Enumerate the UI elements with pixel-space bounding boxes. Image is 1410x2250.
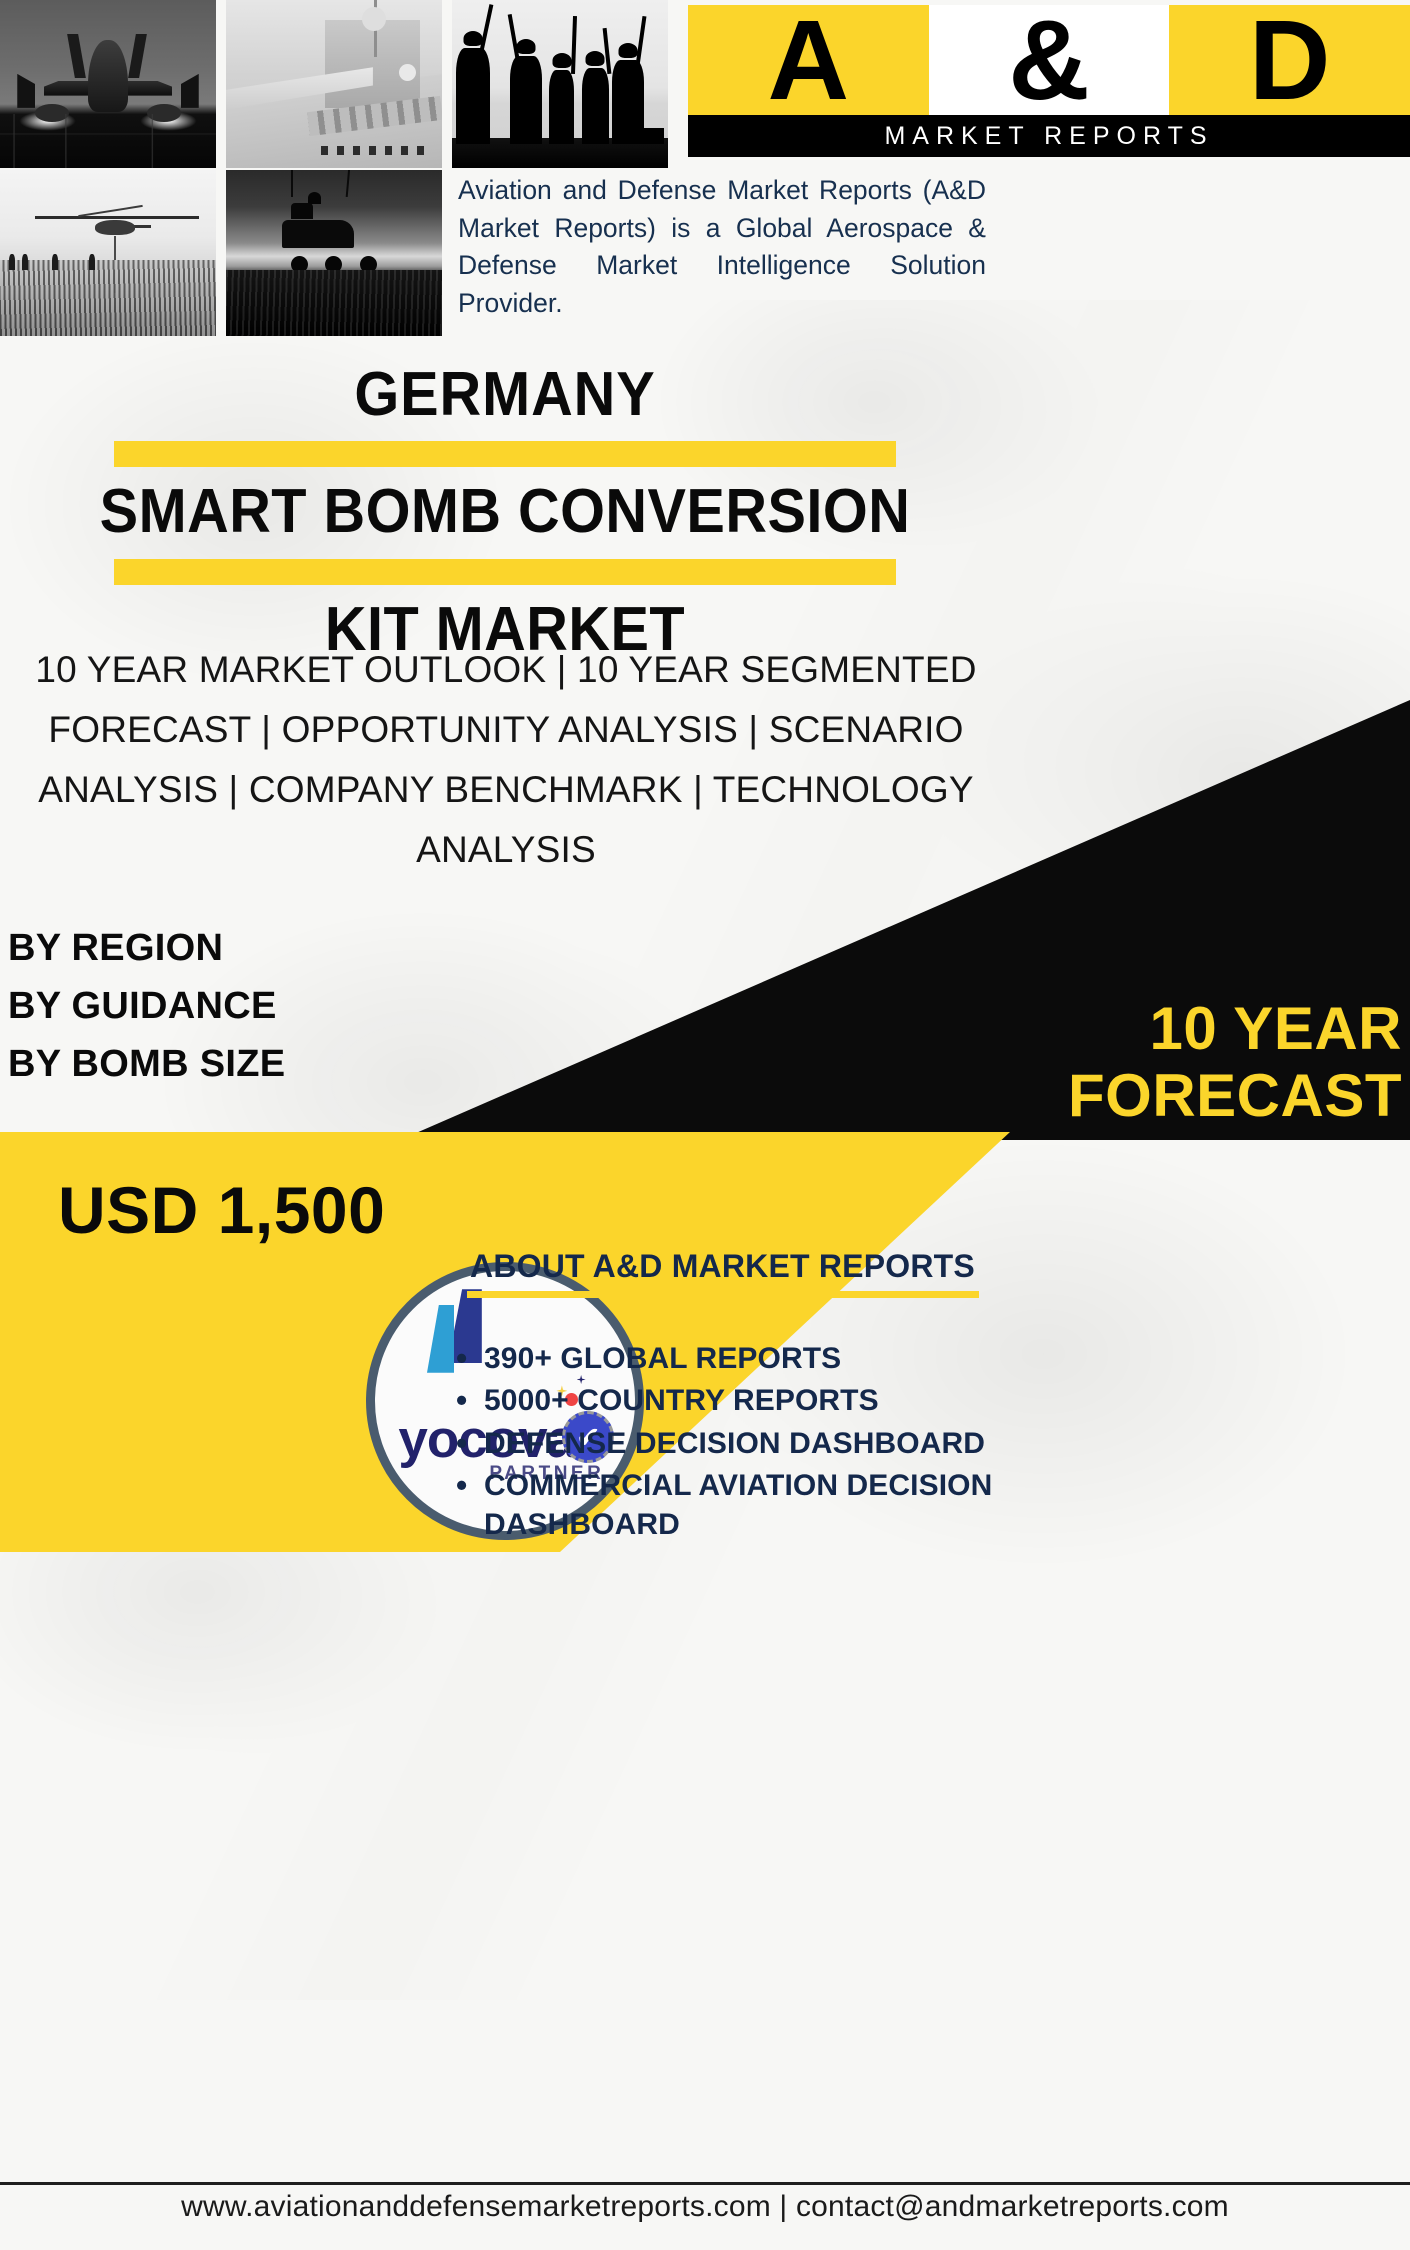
segmentation-list: BY REGION BY GUIDANCE BY BOMB SIZE	[8, 920, 285, 1093]
troop-silhouette	[22, 254, 28, 270]
photo-helicopter-troop-insertion	[0, 170, 216, 336]
photo-aircraft-carrier-superstructure	[226, 0, 442, 168]
company-description: Aviation and Defense Market Reports (A&D…	[458, 172, 986, 323]
logo-letter-d: D	[1169, 5, 1410, 115]
jet-fin-right-shape	[181, 74, 199, 108]
about-title-underline	[467, 1291, 979, 1298]
ship-radar-dome-shape	[362, 7, 386, 31]
about-list-item: COMMERCIAL AVIATION DECISION DASHBOARD	[450, 1467, 995, 1544]
photo-armored-vehicle-at-dusk	[226, 170, 442, 336]
soldier-silhouette	[549, 70, 574, 144]
jet-tail-left-shape	[67, 34, 86, 78]
about-section-title: ABOUT A&D MARKET REPORTS	[450, 1248, 995, 1285]
about-list-item: DEFENSE DECISION DASHBOARD	[450, 1425, 995, 1463]
ship-portholes-shape	[321, 146, 433, 155]
brand-logo[interactable]: A & D MARKET REPORTS	[680, 0, 1410, 152]
forecast-badge-line-2: FORECAST	[982, 1062, 1402, 1129]
logo-letter-tiles: A & D	[688, 5, 1410, 115]
logo-tagline-bar: MARKET REPORTS	[688, 115, 1410, 157]
report-subtitle: 10 YEAR MARKET OUTLOOK | 10 YEAR SEGMENT…	[26, 640, 986, 880]
headline-line-1: SMART BOMB CONVERSION	[35, 479, 974, 545]
helicopter-fuselage-shape	[95, 220, 135, 235]
forecast-badge-line-1: 10 YEAR	[982, 995, 1402, 1062]
troop-silhouette	[89, 254, 95, 270]
equipment-crate-shape	[630, 128, 664, 144]
vehicle-cab-shape	[291, 203, 313, 219]
logo-tagline: MARKET REPORTS	[884, 122, 1213, 151]
footer-divider	[0, 2182, 1410, 2185]
about-bullet-list: 390+ GLOBAL REPORTS 5000+ COUNTRY REPORT…	[450, 1340, 995, 1544]
troop-silhouette	[9, 254, 15, 270]
jet-fin-left-shape	[17, 74, 35, 108]
soldier-silhouette	[510, 56, 542, 144]
soldier-silhouette	[456, 48, 490, 144]
logo-letter-ampersand: &	[929, 5, 1170, 115]
photo-fighter-jet-on-carrier-deck	[0, 0, 216, 168]
segment-by-guidance: BY GUIDANCE	[8, 978, 285, 1036]
antenna-shape	[291, 170, 293, 197]
troop-silhouette	[52, 254, 58, 270]
report-headline: GERMANY SMART BOMB CONVERSION KIT MARKET	[0, 362, 1010, 663]
headline-country: GERMANY	[35, 362, 974, 427]
photo-soldiers-silhouette-patrol	[452, 0, 668, 168]
segment-by-region: BY REGION	[8, 920, 285, 978]
jet-fuselage-shape	[88, 40, 128, 112]
jet-tail-right-shape	[128, 34, 147, 78]
soldier-silhouette	[582, 68, 609, 144]
headline-highlight-bar-bottom	[114, 559, 896, 585]
about-list-item: 5000+ COUNTRY REPORTS	[450, 1382, 995, 1420]
headline-highlight-bar-top	[114, 441, 896, 467]
forecast-badge: 10 YEAR FORECAST	[982, 995, 1402, 1129]
footer-contact[interactable]: www.aviationanddefensemarketreports.com …	[0, 2190, 1410, 2224]
about-list-item: 390+ GLOBAL REPORTS	[450, 1340, 995, 1378]
vehicle-hull-shape	[282, 220, 354, 248]
carrier-deck-markings	[0, 114, 216, 168]
antenna-shape	[346, 170, 351, 197]
vehicle-turret-shape	[308, 192, 321, 204]
field-grass-shape	[0, 260, 216, 336]
about-section: ABOUT A&D MARKET REPORTS 390+ GLOBAL REP…	[450, 1248, 995, 1548]
terrain-shape	[226, 270, 442, 336]
logo-letter-a: A	[688, 5, 929, 115]
segment-by-bomb-size: BY BOMB SIZE	[8, 1036, 285, 1094]
helicopter-rotor-blade-shape	[78, 205, 142, 217]
price-tag: USD 1,500	[58, 1172, 385, 1248]
ship-secondary-dome-shape	[399, 64, 416, 81]
